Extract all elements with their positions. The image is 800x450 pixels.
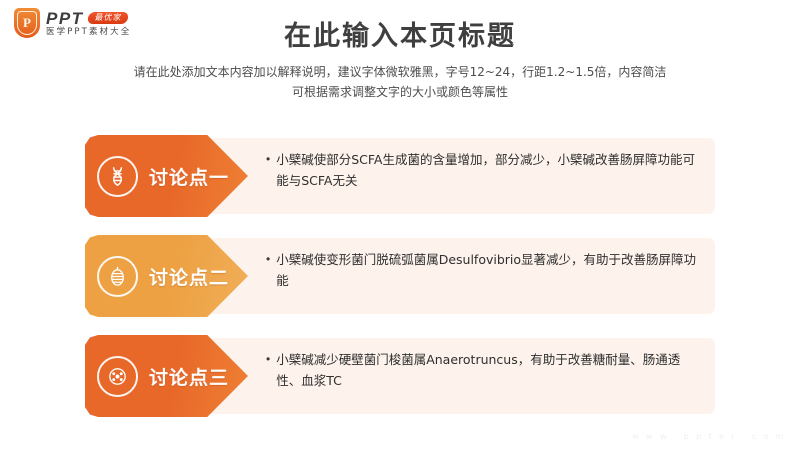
page-title: 在此输入本页标题 — [0, 14, 800, 53]
bacteria-cell-icon — [97, 256, 138, 297]
discussion-point-text: 小檗碱使变形菌门脱硫弧菌属Desulfovibrio显著减少，有助于改善肠屏障功… — [276, 249, 698, 291]
subtitle-line-1: 请在此处添加文本内容加以解释说明，建议字体微软雅黑，字号12~24，行距1.2~… — [0, 62, 800, 82]
page-subtitle: 请在此处添加文本内容加以解释说明，建议字体微软雅黑，字号12~24，行距1.2~… — [0, 62, 800, 102]
discussion-point-label: 讨论点一 — [149, 163, 229, 190]
discussion-point-label: 讨论点三 — [149, 363, 229, 390]
bullet-marker: • — [266, 149, 270, 191]
bullet-marker: • — [266, 249, 270, 291]
bullet-row: • 小檗碱使部分SCFA生成菌的含量增加，部分减少，小檗碱改善肠屏障功能可能与S… — [266, 149, 698, 191]
list-item: 讨论点三 • 小檗碱减少硬壁菌门梭菌属Anaerotruncus，有助于改善糖耐… — [0, 335, 800, 417]
discussion-points-list: 讨论点一 • 小檗碱使部分SCFA生成菌的含量增加，部分减少，小檗碱改善肠屏障功… — [0, 135, 800, 435]
dna-helix-icon — [97, 156, 138, 197]
list-item: 讨论点二 • 小檗碱使变形菌门脱硫弧菌属Desulfovibrio显著减少，有助… — [0, 235, 800, 317]
bullet-marker: • — [266, 349, 270, 391]
discussion-point-text: 小檗碱减少硬壁菌门梭菌属Anaerotruncus，有助于改善糖耐量、肠通透性、… — [276, 349, 698, 391]
discussion-point-text: 小檗碱使部分SCFA生成菌的含量增加，部分减少，小檗碱改善肠屏障功能可能与SCF… — [276, 149, 698, 191]
footer-watermark: w w w . p p t e r . c o m — [632, 432, 786, 441]
discussion-point-label: 讨论点二 — [149, 263, 229, 290]
subtitle-line-2: 可根据需求调整文字的大小或颜色等属性 — [0, 82, 800, 102]
bullet-row: • 小檗碱使变形菌门脱硫弧菌属Desulfovibrio显著减少，有助于改善肠屏… — [266, 249, 698, 291]
bullet-row: • 小檗碱减少硬壁菌门梭菌属Anaerotruncus，有助于改善糖耐量、肠通透… — [266, 349, 698, 391]
list-item: 讨论点一 • 小檗碱使部分SCFA生成菌的含量增加，部分减少，小檗碱改善肠屏障功… — [0, 135, 800, 217]
virus-cell-icon — [97, 356, 138, 397]
